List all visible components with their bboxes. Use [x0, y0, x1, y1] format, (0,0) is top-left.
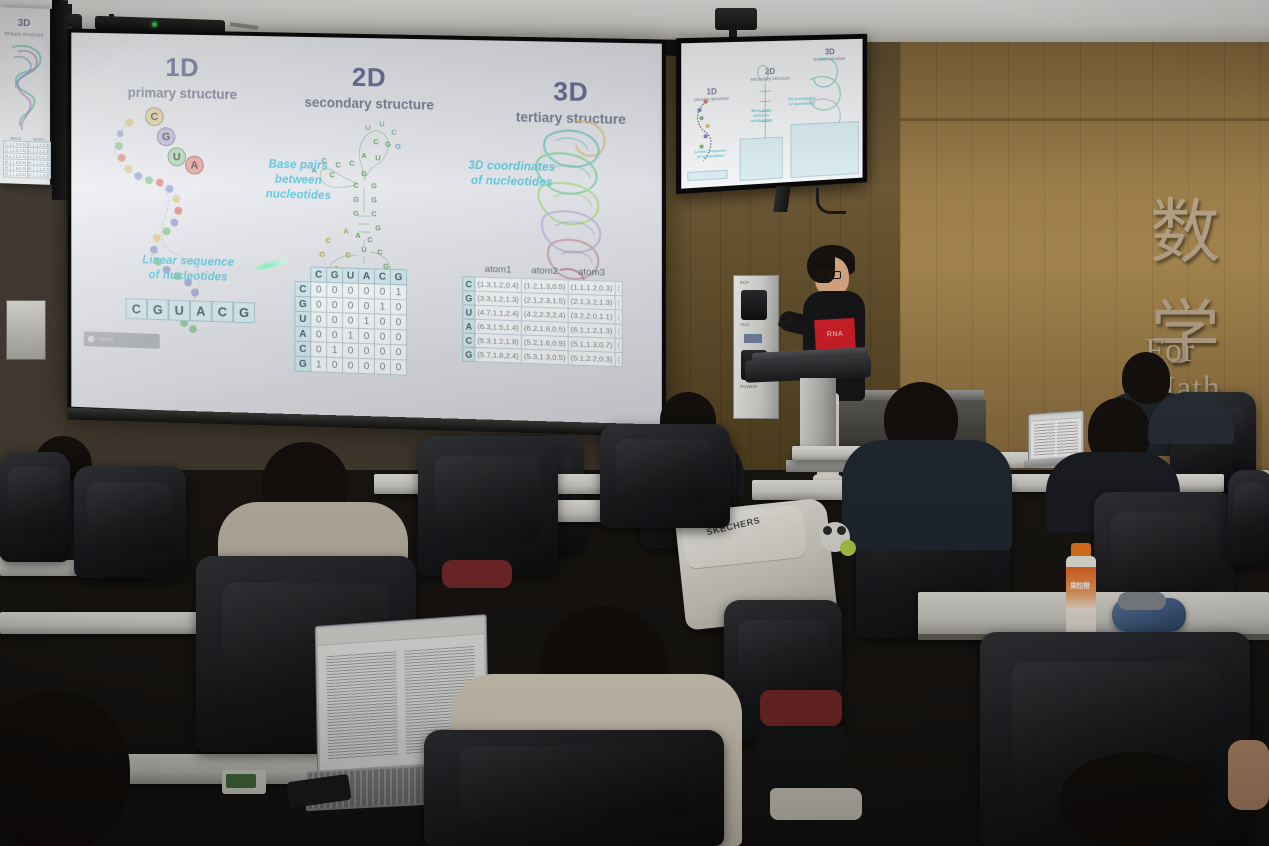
- svg-text:A: A: [343, 226, 349, 235]
- glasses-case-lid: [1118, 592, 1166, 610]
- matrix-row-header: G: [295, 356, 311, 372]
- cell: (5.1,2.2,0.3): [568, 351, 615, 367]
- wall-access-panel: [6, 300, 46, 360]
- cell: 0: [374, 329, 390, 345]
- column-title-1d: 1D primary structure: [104, 51, 261, 103]
- svg-text:G: G: [319, 250, 325, 259]
- cell: (6.3,1.5,1.4): [475, 319, 521, 335]
- matrix-row-header: C: [295, 281, 311, 296]
- mini-contact-matrix: [740, 137, 783, 182]
- sequence-cell: A: [190, 300, 212, 322]
- table-row: G 1 0 0 0 0 0: [295, 356, 407, 375]
- svg-text:G: G: [375, 223, 381, 232]
- cell: (1.1,1.2,0.3): [568, 280, 615, 296]
- left-monitor-table: atom2 atom3 (1.2,1.3,0.5)(1.1,1.2,0.3) (…: [3, 135, 51, 179]
- kiosk-mid-label: AUX: [740, 322, 749, 327]
- svg-text:U: U: [361, 245, 366, 254]
- cell: (3.2,2.0,1.1): [568, 308, 615, 324]
- cell: (2.1,3.2,1.3): [568, 294, 615, 310]
- mini-caption-3d: 3D coordinatesof nucleotides: [781, 95, 823, 107]
- cell: 1: [374, 299, 390, 315]
- svg-text:U: U: [365, 123, 370, 132]
- coord-row-header: G: [463, 347, 475, 362]
- cell: 0: [311, 297, 327, 312]
- ceiling-projector: [715, 8, 757, 30]
- chair-row2-far-right[interactable]: [1228, 470, 1269, 566]
- cell: 1: [390, 284, 406, 300]
- cell: 0: [374, 344, 390, 360]
- cell: 0: [390, 360, 406, 376]
- drink-bottle[interactable]: 果粒橙: [1064, 543, 1098, 643]
- kiosk-top-label: ECP: [740, 280, 749, 285]
- cell: 0: [343, 343, 359, 359]
- caption-2d: Base pairs between nucleotides: [249, 157, 348, 205]
- chair-center-row3[interactable]: [600, 424, 730, 528]
- matrix-col-header: U: [343, 268, 359, 283]
- wall-monitor-screen: 1D primary structure 2D secondary struct…: [681, 39, 862, 189]
- cell: 0: [327, 357, 343, 373]
- watermark-text: notes: [97, 336, 113, 342]
- classroom-photo: 数学 For Math 3D tertiary structure atom2 …: [0, 0, 1269, 846]
- coord-row-header: G: [463, 291, 475, 305]
- nucleotide-g: G: [157, 127, 176, 146]
- cell: 0: [390, 344, 406, 360]
- cell: 0: [359, 343, 375, 359]
- matrix-row-header: C: [295, 341, 311, 357]
- cell: (1.3,1.2,0.4): [475, 277, 521, 293]
- svg-text:A: A: [355, 231, 361, 240]
- kiosk-display: [744, 334, 762, 343]
- cell-clipped: (: [615, 338, 623, 352]
- svg-text:A: A: [361, 151, 367, 160]
- cell-clipped: (: [615, 352, 623, 366]
- nucleotide-u: U: [168, 147, 187, 166]
- cell: (6.1,1.2,1.3): [568, 322, 615, 338]
- screen-watermark: notes: [84, 331, 160, 348]
- mini-caption-2d: Base pairsbetweennucleotides: [742, 107, 781, 124]
- slide-content: 1D primary structure 2D secondary struct…: [71, 33, 662, 430]
- nucleotide-a: A: [185, 156, 204, 175]
- presenter-glasses-left: [817, 271, 830, 279]
- coord-row-header: C: [463, 277, 475, 291]
- contact-matrix: C G U A C G C 0 0 0 0 0 1: [294, 266, 407, 376]
- cell-clipped: (: [615, 324, 623, 338]
- tissue-pack-label: [226, 774, 256, 788]
- table-row: (5.3,1.3,0.5)(5.1,2.2,0.3): [4, 171, 51, 179]
- desk-left-mid: [0, 612, 224, 634]
- left-monitor-ribbon-icon: [0, 39, 56, 137]
- left-monitor-level: 3D: [0, 17, 50, 30]
- cell: 0: [359, 328, 375, 344]
- chair-left-row3[interactable]: [418, 436, 558, 576]
- sequence-cell: C: [212, 301, 234, 323]
- matrix-col-header: G: [327, 267, 343, 282]
- coord-col-header-clipped: [615, 268, 623, 282]
- svg-text:G: G: [353, 209, 359, 218]
- cell: (5.3,1.3,0.5): [521, 349, 568, 365]
- cell: (5.3,1.3,0.5): [4, 171, 28, 178]
- svg-text:C: C: [345, 250, 351, 259]
- left-monitor-subtitle: tertiary structure: [0, 31, 50, 39]
- bottle-label: 果粒橙: [1066, 567, 1096, 611]
- projection-screen: 1D primary structure 2D secondary struct…: [67, 28, 666, 433]
- svg-text:C: C: [353, 181, 359, 190]
- cell: 0: [390, 299, 406, 315]
- matrix-corner: [295, 266, 311, 281]
- cell: 0: [359, 358, 375, 374]
- caption-3d-line2: of nucleotides: [456, 174, 567, 192]
- column-title-2d: 2D secondary structure: [285, 60, 455, 113]
- matrix-col-header: C: [374, 269, 390, 285]
- sequence-cell: G: [147, 299, 168, 320]
- cell: 0: [327, 327, 343, 343]
- bottle-label-text: 果粒橙: [1070, 581, 1090, 591]
- svg-text:C: C: [349, 159, 355, 168]
- cell: (2.1,2.3,1.5): [521, 293, 568, 309]
- cell-clipped: (: [615, 281, 623, 295]
- svg-text:U: U: [379, 119, 384, 128]
- svg-text:U: U: [375, 153, 380, 162]
- cell: 0: [390, 314, 406, 330]
- cell: (3.3,1.2,1.3): [475, 291, 521, 307]
- bottle-cap: [1071, 543, 1091, 557]
- chair-seat-red[interactable]: [760, 690, 842, 726]
- cell: 1: [311, 357, 327, 373]
- cell: 0: [343, 313, 359, 329]
- cell: 0: [343, 358, 359, 374]
- wall-monitor[interactable]: 1D primary structure 2D secondary struct…: [676, 34, 867, 194]
- svg-text:C: C: [367, 235, 373, 244]
- sequence-cell: G: [233, 302, 255, 324]
- svg-text:C: C: [373, 137, 379, 146]
- svg-text:C: C: [377, 247, 383, 256]
- svg-text:G: G: [353, 195, 359, 204]
- panda-keychain: [820, 522, 850, 552]
- cell: 0: [327, 297, 343, 313]
- svg-text:G: G: [385, 139, 391, 148]
- hoodie-graphic: RNA: [814, 318, 856, 350]
- keychain-ball: [840, 540, 856, 556]
- svg-text:C: C: [371, 209, 377, 218]
- chair-left-back[interactable]: [0, 452, 70, 562]
- cell: 0: [311, 342, 327, 358]
- student-shoulders-row2-center: [842, 440, 1012, 550]
- coord-corner: [463, 263, 475, 277]
- chair-front-center[interactable]: [424, 730, 724, 846]
- svg-text:G: G: [361, 169, 367, 178]
- nucleotide-c: C: [145, 107, 164, 126]
- coordinate-table-grid: atom1 atom2 atom3 C (1.3,1.2,0.4) (1.2,1…: [462, 263, 623, 367]
- cell: (1.2,1.3,0.5): [521, 278, 568, 294]
- matrix-col-header: G: [390, 269, 406, 285]
- svg-text:G: G: [395, 142, 401, 151]
- mini-coordinate-table: [790, 121, 858, 178]
- svg-text:G: G: [371, 181, 377, 190]
- matrix-row-header: A: [295, 326, 311, 342]
- svg-text:G: G: [371, 195, 377, 204]
- tissue-pack[interactable]: [222, 770, 266, 794]
- matrix-col-header: A: [359, 268, 375, 284]
- cell: (4.2,2.3,2.4): [521, 307, 568, 323]
- camera-status-led: [152, 22, 157, 27]
- cell: 0: [343, 298, 359, 314]
- sequence-strip: C G U A C G: [126, 298, 255, 323]
- level-name-2d: secondary structure: [285, 94, 455, 113]
- student-hand-front-right: [1228, 740, 1269, 810]
- cell: 0: [327, 312, 343, 328]
- svg-text:C: C: [325, 236, 331, 245]
- cell: (4.7,1.1,2.4): [475, 305, 521, 321]
- presenter-glasses-right: [830, 271, 841, 279]
- kiosk-panel-upper[interactable]: [741, 290, 767, 320]
- cell: 0: [374, 359, 390, 375]
- chair-left-back-2[interactable]: [74, 466, 186, 578]
- caption-1d: Linear sequence of nucleotides: [110, 252, 267, 287]
- cell: 0: [343, 283, 359, 299]
- cell: 0: [359, 298, 375, 314]
- coord-col-header: atom2: [521, 265, 568, 280]
- kiosk-bottom-label: POWER: [740, 384, 757, 389]
- coord-row-header: A: [463, 319, 475, 333]
- level-label-3d: 3D: [495, 75, 648, 110]
- cell: 0: [311, 282, 327, 297]
- coord-col-header: atom3: [568, 266, 615, 281]
- cell: 0: [311, 312, 327, 328]
- matrix-col-header: C: [311, 267, 327, 282]
- matrix-row-header: G: [295, 296, 311, 311]
- cell: 0: [390, 329, 406, 345]
- cell: (5.1,2.2,0.3): [27, 172, 51, 179]
- sequence-cell: C: [126, 298, 147, 319]
- cell: 1: [343, 328, 359, 344]
- left-wall-monitor[interactable]: 3D tertiary structure atom2 atom3 (1.2,1…: [0, 7, 54, 185]
- student-head-suit: [1126, 358, 1170, 404]
- cell: (5.7,1.8,2.4): [475, 347, 521, 363]
- level-label-2d: 2D: [285, 60, 455, 95]
- cell: 1: [327, 342, 343, 358]
- cell: 0: [327, 282, 343, 297]
- level-name-1d: primary structure: [104, 84, 261, 102]
- watermark-dot: [88, 335, 95, 342]
- cell: 0: [359, 283, 375, 299]
- monitor-cable: [816, 188, 846, 214]
- cell: 0: [374, 284, 390, 300]
- cell: 1: [359, 313, 375, 329]
- student-head-front-right: [1060, 752, 1210, 846]
- coordinate-table: atom1 atom2 atom3 C (1.3,1.2,0.4) (1.2,1…: [462, 263, 623, 367]
- cell: 0: [311, 327, 327, 343]
- left-monitor-bezel: [52, 0, 68, 200]
- coord-row-header: U: [463, 305, 475, 319]
- caption-2d-line3: nucleotides: [249, 187, 348, 205]
- caption-3d: 3D coordinates of nucleotides: [456, 158, 567, 191]
- chair-seat-red-left[interactable]: [442, 560, 512, 588]
- level-label-1d: 1D: [104, 51, 261, 85]
- contact-matrix-table: C G U A C G C 0 0 0 0 0 1: [294, 266, 407, 376]
- sequence-cell: U: [169, 300, 191, 322]
- cell: (6.2,1.6,0.5): [521, 321, 568, 337]
- cell-clipped: (: [615, 310, 623, 324]
- cell: 0: [374, 314, 390, 330]
- cell-clipped: (: [615, 296, 623, 310]
- shoe-row1: [770, 788, 862, 820]
- glasses-case[interactable]: [1112, 598, 1186, 632]
- coord-col-header: atom1: [475, 263, 521, 278]
- svg-text:C: C: [391, 128, 397, 137]
- av-control-kiosk[interactable]: ECP AUX POWER: [733, 275, 779, 419]
- matrix-row-header: U: [295, 311, 311, 326]
- coord-row-header: C: [463, 333, 475, 347]
- student-head-front-left: [0, 690, 130, 846]
